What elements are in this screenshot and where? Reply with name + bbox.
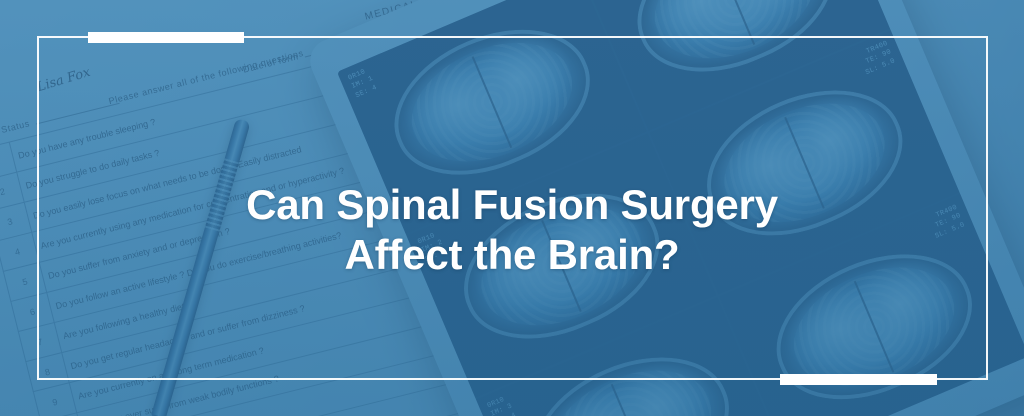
page-title: Can Spinal Fusion Surgery Affect the Bra… [0, 180, 1024, 280]
blog-header-banner: ASSOCIATES MEDICAL QUESTIONNAIRE Health … [0, 0, 1024, 416]
page-title-line-2: Affect the Brain? [0, 230, 1024, 280]
frame-accent-bar-bottom [780, 374, 937, 385]
page-title-line-1: Can Spinal Fusion Surgery [0, 180, 1024, 230]
frame-accent-bar-top [88, 32, 244, 43]
